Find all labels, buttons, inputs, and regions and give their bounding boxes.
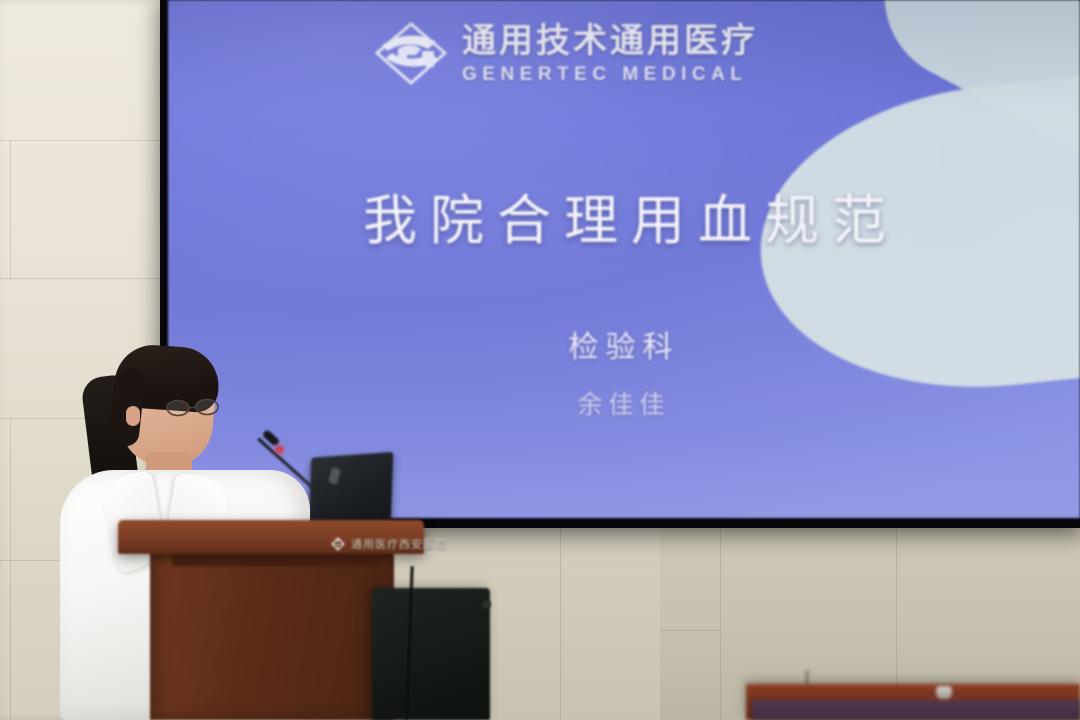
genertec-diamond-logo-icon xyxy=(330,536,346,552)
podium-body xyxy=(150,550,394,720)
presentation-room-scene: 通用技术通用医疗 GENERTEC MEDICAL 我院合理用血规范 检验科 余… xyxy=(0,0,1080,720)
table-knob xyxy=(936,686,952,699)
foreground-table-surface xyxy=(752,700,1080,720)
genertec-diamond-logo-icon xyxy=(374,22,448,86)
slide-title: 我院合理用血规范 xyxy=(168,176,1080,255)
speaker-latch xyxy=(482,600,491,609)
eyeglasses-icon xyxy=(166,398,222,418)
slide-logo-chinese: 通用技术通用医疗 xyxy=(462,24,758,58)
floor-speaker xyxy=(372,588,490,720)
slide-logo-english: GENERTEC MEDICAL xyxy=(462,65,758,84)
slide-logo-lockup: 通用技术通用医疗 GENERTEC MEDICAL xyxy=(374,22,758,86)
laptop xyxy=(309,452,393,530)
podium-label: 通用医疗西安医院 xyxy=(351,536,447,552)
presenter-ear xyxy=(126,406,140,426)
podium-branding: 通用医疗西安医院 xyxy=(330,536,447,552)
